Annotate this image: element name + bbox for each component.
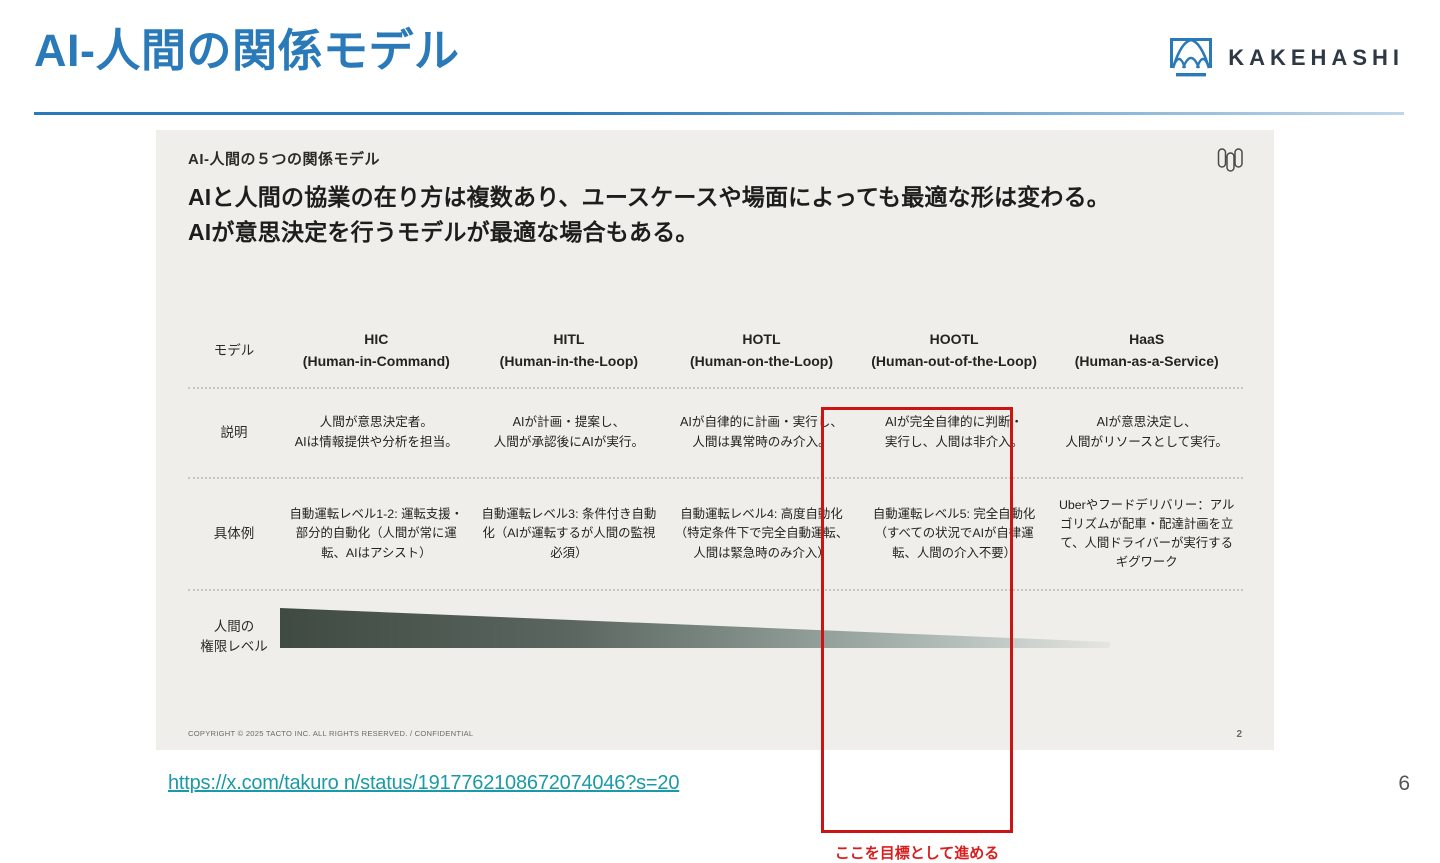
example-cell-hitl: 自動運転レベル3: 条件付き自動化（AIが運転するが人間の監視必須） [473, 505, 666, 563]
description-cell-hitl: AIが計画・提案し、 人間が承認後にAIが実行。 [473, 413, 666, 452]
table-description-row: 説明 人間が意思決定者。 AIは情報提供や分析を担当。 AIが計画・提案し、 人… [188, 389, 1243, 477]
header-cell-hotl: HOTL (Human-on-the-Loop) [665, 329, 858, 372]
description-cell-hotl: AIが自律的に計画・実行し、 人間は異常時のみ介入。 [665, 413, 858, 452]
row-label-examples: 具体例 [188, 524, 280, 544]
description-line: 実行し、人間は非介入。 [866, 433, 1043, 453]
description-line: 人間が承認後にAIが実行。 [481, 433, 658, 453]
table-header-row: モデル HIC (Human-in-Command) HITL (Human-i… [188, 315, 1243, 387]
model-full-name: (Human-on-the-Loop) [673, 351, 850, 373]
authority-label-line: 権限レベル [188, 637, 280, 657]
description-cell-haas: AIが意思決定し、 人間がリソースとして実行。 [1050, 413, 1243, 452]
card-copyright: COPYRIGHT © 2025 TACTO INC. ALL RIGHTS R… [188, 729, 473, 738]
description-cell-hic: 人間が意思決定者。 AIは情報提供や分析を担当。 [280, 413, 473, 452]
example-cell-hotl: 自動運転レベル4: 高度自動化（特定条件下で完全自動運転、人間は緊急時のみ介入） [665, 505, 858, 563]
description-line: AIは情報提供や分析を担当。 [288, 433, 465, 453]
table-authority-row: 人間の 権限レベル [188, 591, 1243, 683]
example-cell-haas: Uberやフードデリバリー：アルゴリズムが配車・配達計画を立て、人間ドライバーが… [1050, 496, 1243, 573]
model-abbr: HIC [288, 329, 465, 351]
example-cell-hootl: 自動運転レベル5: 完全自動化（すべての状況でAIが自律運転、人間の介入不要） [858, 505, 1051, 563]
highlight-caption: ここを目標として進める [821, 842, 1013, 863]
source-url-link[interactable]: https://x.com/takuro n/status/1917762108… [168, 772, 679, 795]
description-line: AIが完全自律的に判断・ [866, 413, 1043, 433]
model-full-name: (Human-as-a-Service) [1058, 351, 1235, 373]
brand-name: KAKEHASHI [1228, 45, 1404, 71]
card-headline: AIと人間の協業の在り方は複数あり、ユースケースや場面によっても最適な形は変わる… [188, 180, 1110, 250]
description-line: 人間は異常時のみ介入。 [673, 433, 850, 453]
description-line: AIが計画・提案し、 [481, 413, 658, 433]
row-label-model: モデル [188, 341, 280, 361]
model-abbr: HaaS [1058, 329, 1235, 351]
model-comparison-table: モデル HIC (Human-in-Command) HITL (Human-i… [188, 315, 1243, 683]
header-cell-hic: HIC (Human-in-Command) [280, 329, 473, 372]
row-label-description: 説明 [188, 423, 280, 443]
title-divider [34, 112, 1404, 115]
row-label-authority: 人間の 権限レベル [188, 617, 280, 656]
model-abbr: HOTL [673, 329, 850, 351]
embedded-slide-card: AI-人間の５つの関係モデル AIと人間の協業の在り方は複数あり、ユースケースや… [156, 130, 1274, 750]
model-full-name: (Human-in-Command) [288, 351, 465, 373]
authority-label-line: 人間の [188, 617, 280, 637]
example-cell-hic: 自動運転レベル1-2: 運転支援・部分的自動化（人間が常に運転、AIはアシスト） [280, 505, 473, 563]
description-line: 人間がリソースとして実行。 [1058, 433, 1235, 453]
header-cell-hootl: HOOTL (Human-out-of-the-Loop) [858, 329, 1051, 372]
tacto-logo-icon [1216, 146, 1244, 176]
model-full-name: (Human-out-of-the-Loop) [866, 351, 1043, 373]
description-cell-hootl: AIが完全自律的に判断・ 実行し、人間は非介入。 [858, 413, 1051, 452]
card-headline-line-1: AIと人間の協業の在り方は複数あり、ユースケースや場面によっても最適な形は変わる… [188, 180, 1110, 215]
brand-logo: KAKEHASHI [1168, 36, 1404, 80]
header-cell-hitl: HITL (Human-in-the-Loop) [473, 329, 666, 372]
authority-gradient-wedge [280, 602, 1243, 672]
description-line: AIが意思決定し、 [1058, 413, 1235, 433]
card-eyebrow: AI-人間の５つの関係モデル [188, 148, 380, 169]
model-full-name: (Human-in-the-Loop) [481, 351, 658, 373]
authority-wedge-shape [280, 602, 1243, 672]
model-abbr: HITL [481, 329, 658, 351]
kakehashi-bridge-icon [1168, 36, 1214, 80]
description-line: 人間が意思決定者。 [288, 413, 465, 433]
description-line: AIが自律的に計画・実行し、 [673, 413, 850, 433]
card-headline-line-2: AIが意思決定を行うモデルが最適な場合もある。 [188, 215, 1110, 250]
model-abbr: HOOTL [866, 329, 1043, 351]
slide-page-number: 6 [1398, 772, 1410, 796]
header-cell-haas: HaaS (Human-as-a-Service) [1050, 329, 1243, 372]
card-page-number: 2 [1236, 729, 1242, 740]
page-title: AI-人間の関係モデル [34, 26, 460, 76]
table-examples-row: 具体例 自動運転レベル1-2: 運転支援・部分的自動化（人間が常に運転、AIはア… [188, 479, 1243, 589]
